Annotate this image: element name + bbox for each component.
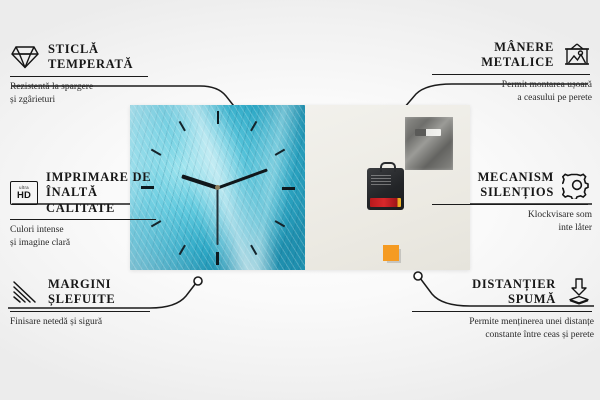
callout-subtitle: Rezistentă la spargere și zgârieturi <box>10 81 160 106</box>
down-arrow-stack-icon <box>564 277 594 307</box>
callout-subtitle: Klockvisare som inte låter <box>432 209 592 234</box>
callout-rule <box>432 204 588 205</box>
callout-head: ultra HD IMPRIMARE DE ÎNALTĂ CALITATE <box>10 170 162 216</box>
hanger-slot <box>415 129 441 136</box>
battery <box>370 198 401 207</box>
callout-head: MARGINI ȘLEFUITE <box>10 277 160 308</box>
callout-rule <box>412 311 592 312</box>
callout-title: DISTANȚIER SPUMĂ <box>472 277 556 308</box>
connector-dot-polished-edges <box>194 277 202 285</box>
callout-metal-handles: MÂNERE METALICE Permit montarea ușoară a… <box>432 40 592 104</box>
foam-spacer-pad <box>383 245 399 261</box>
movement-hook <box>380 162 396 172</box>
clock-minute-hand <box>217 168 268 189</box>
callout-title: IMPRIMARE DE ÎNALTĂ CALITATE <box>46 170 162 216</box>
callout-subtitle: Permit montarea ușoară a ceasului pe per… <box>432 79 592 104</box>
callout-polished-edges: MARGINI ȘLEFUITE Finisare netedă și sigu… <box>10 277 160 329</box>
callout-subtitle: Permite menținerea unei distanțe constan… <box>412 316 594 341</box>
metal-hanger-plate <box>405 117 453 170</box>
callout-foam-spacer: DISTANȚIER SPUMĂ Permite menținerea unei… <box>412 277 594 341</box>
callout-title: MECANISM SILENȚIOS <box>478 170 554 201</box>
callout-rule <box>432 74 590 75</box>
callout-head: MÂNERE METALICE <box>432 40 592 71</box>
ultra-hd-badge-icon: ultra HD <box>10 181 38 205</box>
callout-title: MÂNERE METALICE <box>481 40 554 71</box>
callout-head: MECANISM SILENȚIOS <box>432 170 592 201</box>
callout-title: MARGINI ȘLEFUITE <box>48 277 115 308</box>
clock-center-cap <box>215 185 220 190</box>
gear-icon <box>562 171 592 199</box>
callout-tempered-glass: STICLĂ TEMPERATĂ Rezistentă la spargere … <box>10 42 160 106</box>
quartz-movement <box>367 168 404 210</box>
callout-head: STICLĂ TEMPERATĂ <box>10 42 160 73</box>
product-photo <box>130 105 470 270</box>
polished-edges-icon <box>10 279 40 305</box>
infographic-canvas: STICLĂ TEMPERATĂ Rezistentă la spargere … <box>0 0 600 400</box>
ultra-hd-large-text: HD <box>17 191 31 201</box>
movement-label <box>371 173 391 185</box>
callout-subtitle: Finisare netedă și sigură <box>10 316 160 329</box>
clock-hour-hand <box>181 174 218 190</box>
callout-rule <box>10 219 156 220</box>
callout-silent-mechanism: MECANISM SILENȚIOS Klockvisare som inte … <box>432 170 592 234</box>
callout-title: STICLĂ TEMPERATĂ <box>48 42 133 73</box>
callout-head: DISTANȚIER SPUMĂ <box>412 277 594 308</box>
clock-second-hand <box>217 188 219 245</box>
callout-high-quality-print: ultra HD IMPRIMARE DE ÎNALTĂ CALITATE Cu… <box>10 170 162 250</box>
callout-subtitle: Culori intense și imagine clară <box>10 224 162 249</box>
diamond-icon <box>10 44 40 70</box>
callout-rule <box>10 311 150 312</box>
picture-hanging-icon <box>562 42 592 69</box>
callout-rule <box>10 76 148 77</box>
